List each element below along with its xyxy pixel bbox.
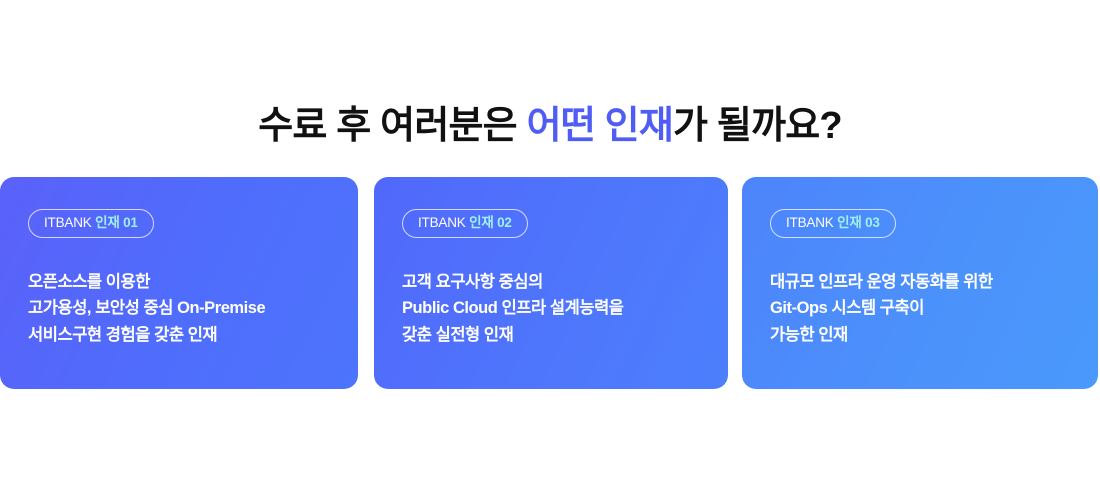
page-title-prefix: 수료 후 여러분은 bbox=[258, 105, 526, 147]
card-badge-03: ITBANK 인재 03 bbox=[770, 209, 896, 238]
badge-brand-label: ITBANK bbox=[418, 215, 466, 230]
card-body-02: 고객 요구사항 중심의 Public Cloud 인프라 설계능력을 갖춘 실전… bbox=[402, 269, 700, 349]
card-badge-01: ITBANK 인재 01 bbox=[28, 209, 154, 238]
badge-number-label: 인재 01 bbox=[95, 215, 138, 230]
page-title-suffix: 가 될까요? bbox=[673, 105, 842, 147]
talent-card-row: ITBANK 인재 01 오픈소스를 이용한 고가용성, 보안성 중심 On-P… bbox=[0, 177, 1100, 389]
talent-card-01[interactable]: ITBANK 인재 01 오픈소스를 이용한 고가용성, 보안성 중심 On-P… bbox=[0, 177, 358, 389]
page-title-accent: 어떤 인재 bbox=[527, 105, 673, 147]
talent-card-03[interactable]: ITBANK 인재 03 대규모 인프라 운영 자동화를 위한 Git-Ops … bbox=[742, 177, 1098, 389]
card-badge-02: ITBANK 인재 02 bbox=[402, 209, 528, 238]
page-title: 수료 후 여러분은 어떤 인재가 될까요? bbox=[0, 103, 1100, 151]
badge-number-label: 인재 02 bbox=[469, 215, 512, 230]
card-body-01: 오픈소스를 이용한 고가용성, 보안성 중심 On-Premise 서비스구현 … bbox=[28, 269, 330, 349]
card-body-03: 대규모 인프라 운영 자동화를 위한 Git-Ops 시스템 구축이 가능한 인… bbox=[770, 269, 1070, 349]
page-root: 수료 후 여러분은 어떤 인재가 될까요? ITBANK 인재 01 오픈소스를… bbox=[0, 0, 1100, 490]
talent-card-02[interactable]: ITBANK 인재 02 고객 요구사항 중심의 Public Cloud 인프… bbox=[374, 177, 728, 389]
badge-brand-label: ITBANK bbox=[44, 215, 92, 230]
badge-number-label: 인재 03 bbox=[837, 215, 880, 230]
badge-brand-label: ITBANK bbox=[786, 215, 834, 230]
